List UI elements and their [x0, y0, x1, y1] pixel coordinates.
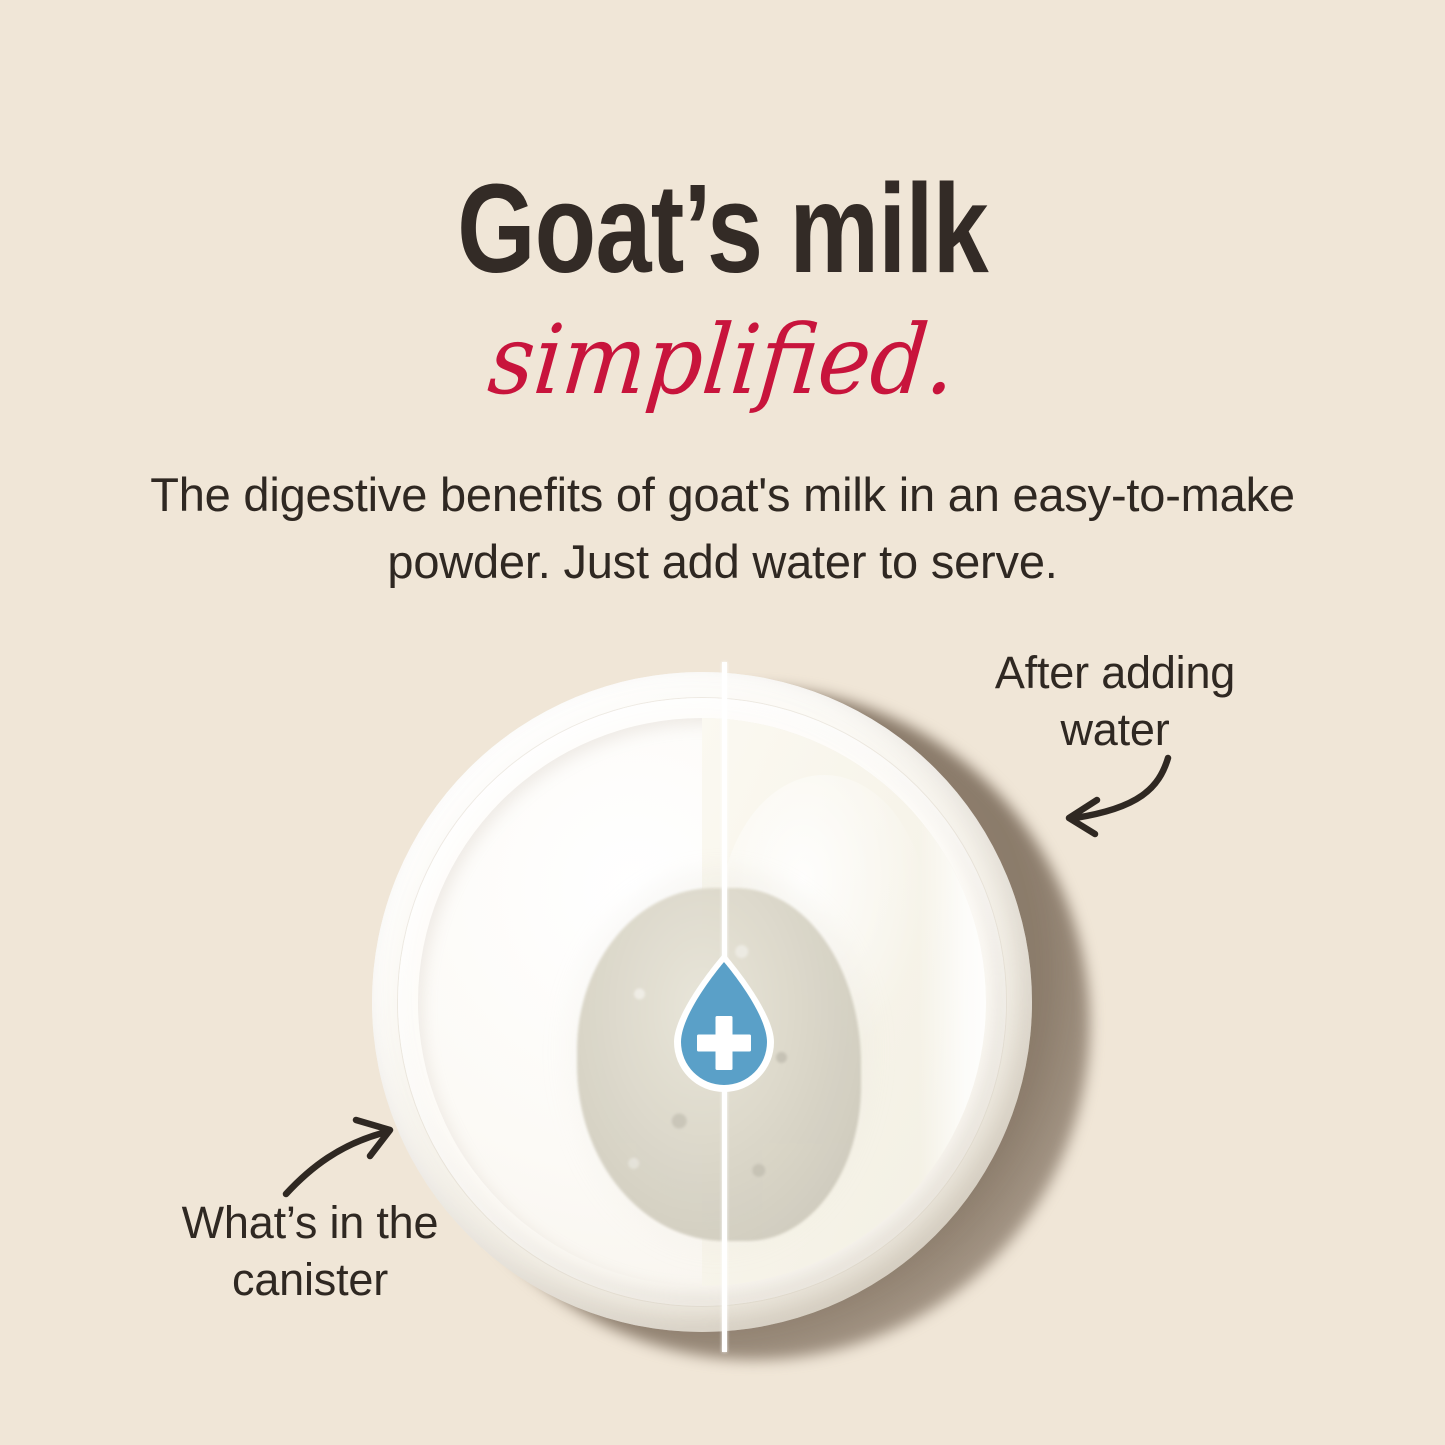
subheading-text: The digestive benefits of goat's milk in…: [120, 462, 1325, 595]
headline-script-accent: simplified.: [53, 312, 1392, 408]
curved-arrow-up-right-icon: [278, 1108, 408, 1203]
liquid-edge-highlight: [918, 741, 986, 1264]
page-title: Goat’s milk: [145, 166, 1301, 292]
callout-after-adding-water: After adding water: [935, 645, 1295, 758]
marketing-hero: Goat’s milk simplified. The digestive be…: [0, 0, 1445, 1445]
callout-whats-in-the-canister: What’s in the canister: [140, 1195, 480, 1308]
water-drop-plus-icon: [662, 948, 786, 1098]
curved-arrow-down-left-icon: [1035, 748, 1185, 843]
